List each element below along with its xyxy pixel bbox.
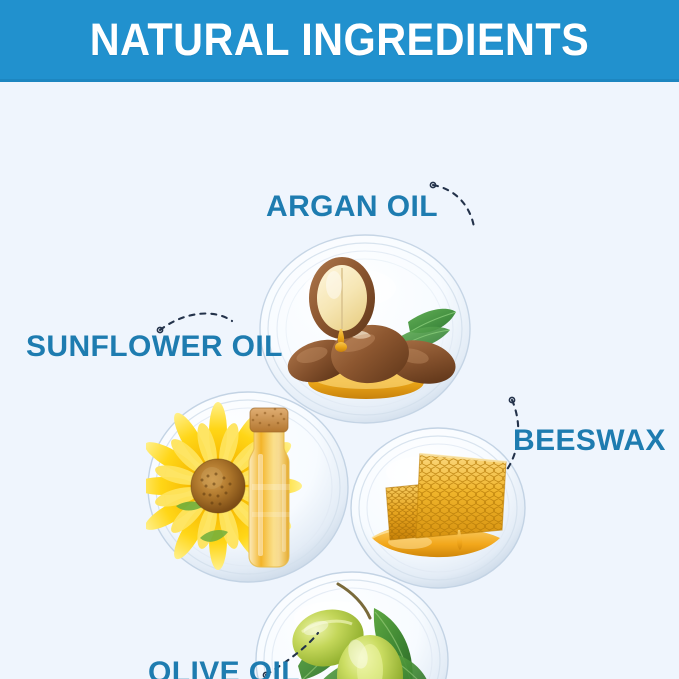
- infographic-page: NATURAL INGREDIENTS: [0, 0, 679, 679]
- sunflower-and-oil-bottle-in-glass-bowl-icon: [146, 388, 350, 584]
- leader-dot-argan-oil: [430, 182, 435, 187]
- leader-line-sunflower-oil: [160, 314, 232, 330]
- ingredients-stage: ARGAN OIL SUNFLOWER OIL BEESWAX OLIVE OI…: [0, 82, 679, 679]
- leader-line-argan-oil: [433, 185, 474, 227]
- leader-dot-beeswax: [509, 397, 514, 402]
- ingredient-label-beeswax: BEESWAX: [513, 424, 666, 458]
- honeycomb-blocks-in-glass-bowl-icon: [350, 426, 526, 590]
- header-banner: NATURAL INGREDIENTS: [0, 0, 679, 82]
- ingredient-label-olive-oil: OLIVE OIL: [148, 656, 300, 679]
- ingredient-label-sunflower-oil: SUNFLOWER OIL: [26, 330, 283, 364]
- sunflower-oil-bowl[interactable]: [146, 388, 350, 584]
- page-title: NATURAL INGREDIENTS: [27, 0, 652, 79]
- beeswax-bowl[interactable]: [350, 426, 526, 590]
- ingredient-label-argan-oil: ARGAN OIL: [266, 190, 438, 224]
